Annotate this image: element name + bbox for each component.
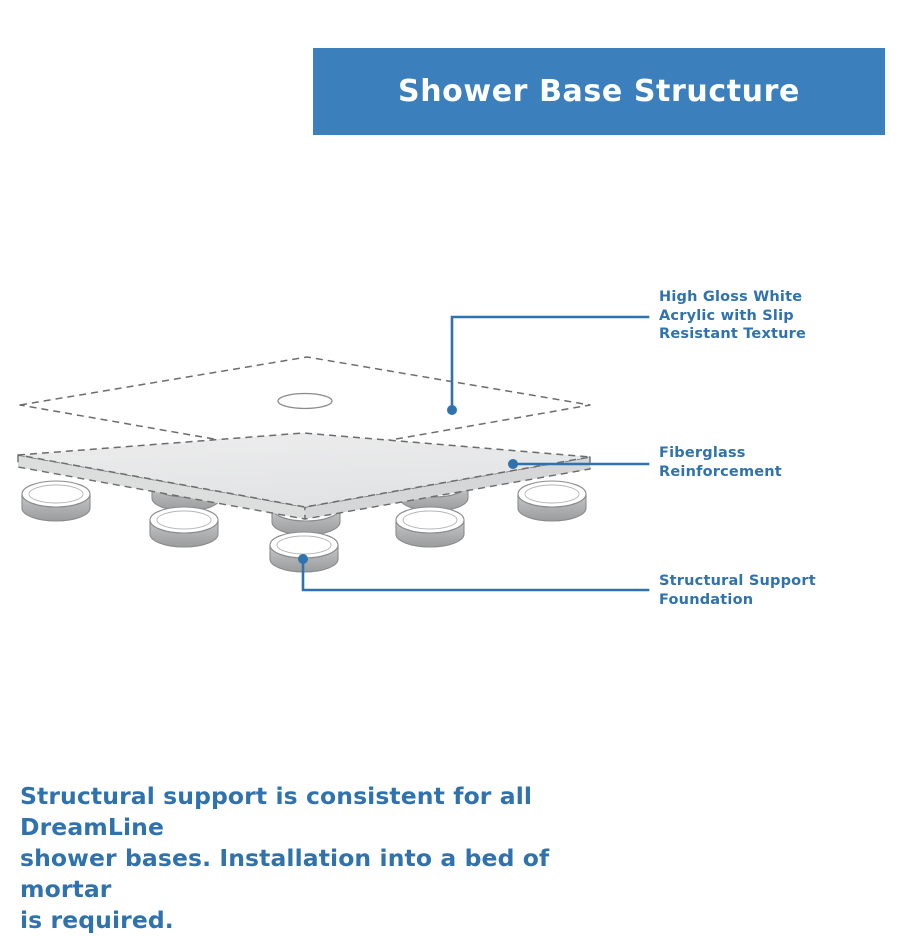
footer-caption: Structural support is consistent for all… — [20, 781, 620, 936]
callout-label-acrylic: High Gloss White Acrylic with Slip Resis… — [659, 288, 864, 344]
support-ring — [396, 507, 464, 547]
drain-opening — [278, 394, 332, 409]
callout-label-fiberglass: Fiberglass Reinforcement — [659, 444, 864, 481]
leader-dot — [298, 554, 308, 564]
support-ring — [22, 481, 90, 521]
support-ring — [518, 481, 586, 521]
support-ring — [150, 507, 218, 547]
fiberglass-layer — [18, 433, 590, 519]
callout-label-support: Structural Support Foundation — [659, 572, 874, 609]
leader-line-support — [298, 554, 648, 590]
diagram-canvas: Shower Base Structure — [0, 0, 900, 900]
leader-dot — [508, 459, 518, 469]
leader-line-acrylic — [447, 317, 648, 415]
leader-dot — [447, 405, 457, 415]
